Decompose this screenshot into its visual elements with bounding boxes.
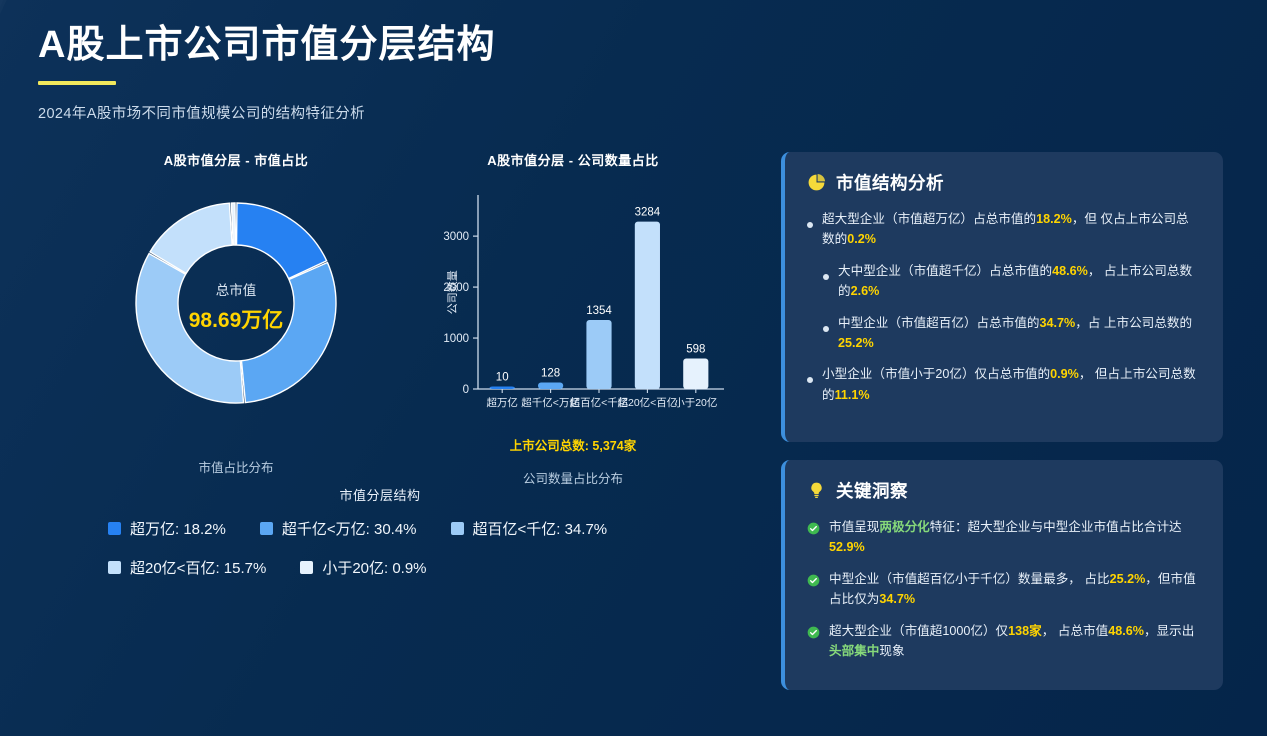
- bar[interactable]: [490, 387, 515, 390]
- bullet-item: 小型企业（市值小于20亿）仅占总市值的0.9%， 但占上市公司总数的11.1%: [807, 364, 1201, 405]
- legend-item-label: 超千亿<万亿: 30.4%: [282, 518, 417, 539]
- plain-text: ， 占总市值: [1042, 624, 1108, 638]
- plain-text: 市值呈现: [829, 520, 879, 534]
- legend-item[interactable]: 小于20亿: 0.9%: [300, 557, 426, 578]
- donut-chart-caption: 市值占比分布: [88, 457, 384, 476]
- x-axis-tick-label: 小于20亿: [674, 396, 717, 409]
- check-circle-icon: [807, 522, 820, 535]
- bar-chart-title: A股市值分层 - 公司数量占比: [408, 150, 738, 169]
- panel-key-insights: 关键洞察 市值呈现两极分化特征：超大型企业与中型企业市值占比合计达52.9%中型…: [781, 460, 1223, 690]
- bullet-item: 大中型企业（市值超千亿）占总市值的48.6%， 占上市公司总数的2.6%: [807, 261, 1201, 302]
- plain-text: 超大型企业（市值超1000亿）仅: [829, 624, 1008, 638]
- bullet-dot-icon: [823, 318, 829, 338]
- plain-text: 超大型企业（市值超万亿）占总市值的: [822, 212, 1036, 226]
- bullet-item: 超大型企业（市值超万亿）占总市值的18.2%，但 仅占上市公司总数的0.2%: [807, 209, 1201, 250]
- donut-slice[interactable]: [237, 203, 327, 279]
- donut-chart-title: A股市值分层 - 市值占比: [88, 150, 384, 169]
- bullet-text: 小型企业（市值小于20亿）仅占总市值的0.9%， 但占上市公司总数的11.1%: [822, 364, 1201, 405]
- donut-slice[interactable]: [241, 263, 336, 403]
- legend-item-label: 超百亿<千亿: 34.7%: [473, 518, 608, 539]
- legend-swatch: [260, 522, 273, 535]
- highlighted-value: 11.1%: [835, 388, 870, 402]
- bullet-dot-icon: [807, 214, 813, 234]
- plain-text: 现象: [879, 644, 904, 658]
- legend-item[interactable]: 超百亿<千亿: 34.7%: [451, 518, 608, 539]
- highlighted-value: 34.7%: [879, 592, 915, 606]
- x-axis-tick-label: 超万亿: [486, 396, 518, 409]
- highlighted-value: 48.6%: [1108, 624, 1144, 638]
- bar-chart-block: A股市值分层 - 公司数量占比 0100020003000公司数量10超万亿12…: [408, 150, 738, 487]
- highlighted-value: 两极分化: [879, 520, 929, 534]
- page-header: A股上市公司市值分层结构 2024年A股市场不同市值规模公司的结构特征分析: [38, 22, 495, 123]
- legend-item-label: 小于20亿: 0.9%: [322, 557, 426, 578]
- highlighted-value: 34.7%: [1040, 316, 1076, 330]
- y-axis-tick-label: 3000: [443, 231, 469, 243]
- bullet-text: 市值呈现两极分化特征：超大型企业与中型企业市值占比合计达52.9%: [829, 517, 1201, 558]
- pie-chart-icon: [807, 173, 826, 192]
- panel-insight-title: 关键洞察: [836, 478, 908, 503]
- bullet-item: 市值呈现两极分化特征：超大型企业与中型企业市值占比合计达52.9%: [807, 517, 1201, 558]
- highlighted-value: 头部集中: [829, 644, 879, 658]
- bullet-text: 大中型企业（市值超千亿）占总市值的48.6%， 占上市公司总数的2.6%: [838, 261, 1201, 302]
- legend-swatch: [108, 561, 121, 574]
- legend-item[interactable]: 超20亿<百亿: 15.7%: [108, 557, 266, 578]
- highlighted-value: 0.2%: [847, 232, 876, 246]
- plain-text: 中型企业（市值超百亿）占总市值的: [838, 316, 1040, 330]
- plain-text: 中型企业（市值超百亿小于千亿）数量最多， 占比: [829, 572, 1110, 586]
- bar-chart: 0100020003000公司数量10超万亿128超千亿<万亿1354超百亿<千…: [408, 179, 738, 441]
- highlighted-value: 138家: [1008, 624, 1042, 638]
- highlighted-value: 25.2%: [1110, 572, 1146, 586]
- legend-title: 市值分层结构: [30, 485, 730, 504]
- bar-value-label: 598: [686, 344, 705, 356]
- check-circle-icon: [807, 626, 820, 639]
- donut-slice[interactable]: [136, 254, 244, 403]
- highlighted-value: 18.2%: [1036, 212, 1072, 226]
- donut-svg: [88, 183, 384, 433]
- bar[interactable]: [635, 222, 660, 389]
- bar[interactable]: [538, 382, 563, 389]
- x-axis-tick-label: 超20亿<百亿: [617, 396, 677, 409]
- y-axis-tick-label: 1000: [443, 333, 469, 345]
- bullet-item: 中型企业（市值超百亿小于千亿）数量最多， 占比25.2%，但市值占比仅为34.7…: [807, 569, 1201, 610]
- bar-value-label: 3284: [635, 207, 661, 219]
- legend-item-label: 超20亿<百亿: 15.7%: [130, 557, 266, 578]
- panel-structure-bullet-list: 超大型企业（市值超万亿）占总市值的18.2%，但 仅占上市公司总数的0.2%大中…: [807, 209, 1201, 405]
- bullet-item: 超大型企业（市值超1000亿）仅138家， 占总市值48.6%，显示出头部集中现…: [807, 621, 1201, 662]
- bullet-text: 超大型企业（市值超1000亿）仅138家， 占总市值48.6%，显示出头部集中现…: [829, 621, 1201, 662]
- panel-structure-header: 市值结构分析: [807, 170, 1201, 195]
- bullet-dot-icon: [807, 369, 813, 389]
- y-axis-tick-label: 0: [463, 384, 469, 396]
- panel-market-structure-analysis: 市值结构分析 超大型企业（市值超万亿）占总市值的18.2%，但 仅占上市公司总数…: [781, 152, 1223, 442]
- bar-value-label: 1354: [586, 305, 612, 317]
- bullet-text: 超大型企业（市值超万亿）占总市值的18.2%，但 仅占上市公司总数的0.2%: [822, 209, 1201, 250]
- legend-item[interactable]: 超千亿<万亿: 30.4%: [260, 518, 417, 539]
- legend-item-label: 超万亿: 18.2%: [130, 518, 226, 539]
- legend-items: 超万亿: 18.2%超千亿<万亿: 30.4%超百亿<千亿: 34.7%超20亿…: [30, 518, 730, 596]
- panel-structure-title: 市值结构分析: [836, 170, 944, 195]
- bar-value-label: 128: [541, 367, 560, 379]
- highlighted-value: 52.9%: [829, 540, 865, 554]
- lightbulb-icon: [807, 481, 826, 500]
- bar[interactable]: [586, 320, 611, 389]
- plain-text: 大中型企业（市值超千亿）占总市值的: [838, 264, 1052, 278]
- panel-insight-header: 关键洞察: [807, 478, 1201, 503]
- legend-swatch: [108, 522, 121, 535]
- bullet-item: 中型企业（市值超百亿）占总市值的34.7%，占 上市公司总数的25.2%: [807, 313, 1201, 354]
- bar[interactable]: [683, 359, 708, 389]
- bar-value-label: 10: [496, 372, 509, 384]
- plain-text: ，显示出: [1144, 624, 1194, 638]
- legend-swatch: [300, 561, 313, 574]
- plain-text: 小型企业（市值小于20亿）仅占总市值的: [822, 367, 1050, 381]
- panel-insight-bullet-list: 市值呈现两极分化特征：超大型企业与中型企业市值占比合计达52.9%中型企业（市值…: [807, 517, 1201, 661]
- donut-chart-block: A股市值分层 - 市值占比 总市值 98.69万亿 市值占比分布: [88, 150, 384, 476]
- chart-legend: 市值分层结构 超万亿: 18.2%超千亿<万亿: 30.4%超百亿<千亿: 34…: [30, 485, 730, 596]
- plain-text: 特征：超大型企业与中型企业市值占比合计达: [930, 520, 1182, 534]
- highlighted-value: 0.9%: [1050, 367, 1079, 381]
- title-underline-accent: [38, 81, 116, 85]
- bullet-text: 中型企业（市值超百亿小于千亿）数量最多， 占比25.2%，但市值占比仅为34.7…: [829, 569, 1201, 610]
- bullet-dot-icon: [823, 266, 829, 286]
- legend-item[interactable]: 超万亿: 18.2%: [108, 518, 226, 539]
- highlighted-value: 48.6%: [1052, 264, 1088, 278]
- donut-chart: 总市值 98.69万亿: [88, 183, 384, 433]
- bar-svg: 0100020003000公司数量10超万亿128超千亿<万亿1354超百亿<千…: [408, 179, 738, 441]
- y-axis-label: 公司数量: [446, 270, 459, 314]
- plain-text: ，占 上市公司总数的: [1075, 316, 1192, 330]
- highlighted-value: 2.6%: [851, 284, 880, 298]
- highlighted-value: 25.2%: [838, 336, 874, 350]
- page-title: A股上市公司市值分层结构: [38, 22, 495, 70]
- check-circle-icon: [807, 574, 820, 587]
- page-subtitle: 2024年A股市场不同市值规模公司的结构特征分析: [38, 102, 495, 123]
- legend-swatch: [451, 522, 464, 535]
- bullet-text: 中型企业（市值超百亿）占总市值的34.7%，占 上市公司总数的25.2%: [838, 313, 1201, 354]
